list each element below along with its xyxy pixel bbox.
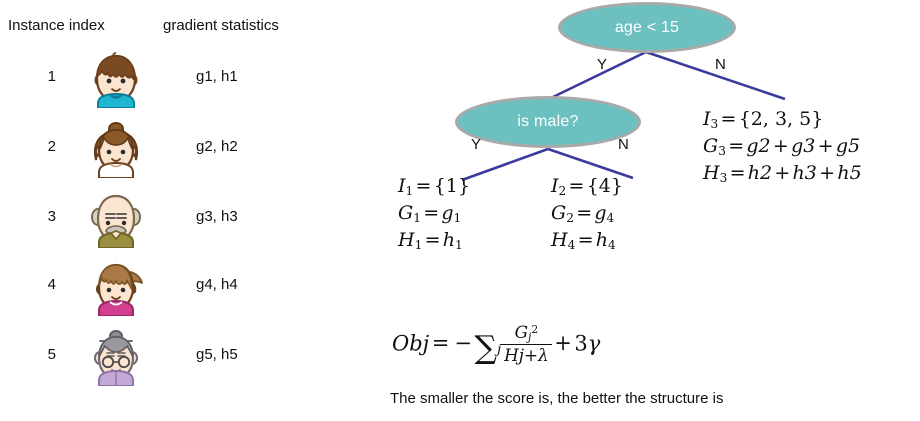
- leaf3-instance-set: I3={2, 3, 5}: [703, 108, 862, 131]
- summation-symbol: ∑: [474, 330, 497, 366]
- objective-lhs: Obj: [392, 331, 429, 355]
- objective-fraction: Gj2Hj+λ: [501, 322, 552, 365]
- objective-tail-symbol: γ: [588, 331, 601, 355]
- leaf-stats-1: I1={1} G1=g1 H1=h1: [398, 175, 470, 252]
- edge-child-yes: [462, 149, 548, 180]
- leaf2-H-var: H: [551, 229, 568, 251]
- leaf2-g-val-sub: 4: [607, 211, 615, 225]
- leaf-stats-2: I2={4} G2=g4 H4=h4: [551, 175, 623, 252]
- objective-plus: +: [552, 331, 575, 355]
- leaf1-I-var: I: [398, 175, 406, 197]
- leaf1-g-val-sub: 1: [454, 211, 462, 225]
- objective-minus: −: [452, 331, 475, 355]
- leaf2-gradient: G2=g4: [551, 202, 623, 225]
- leaf2-h-val: h: [596, 229, 608, 251]
- objective-denominator: Hj+λ: [501, 344, 552, 365]
- edge-label-root-yes: Y: [597, 56, 607, 73]
- leaf1-instance-set: I1={1}: [398, 175, 470, 198]
- leaf3-h-term-3: h5: [837, 162, 861, 184]
- leaf2-h-val-sub: 4: [608, 238, 616, 252]
- leaf3-I-set: {2, 3, 5}: [739, 108, 824, 130]
- leaf2-hessian: H4=h4: [551, 229, 623, 252]
- leaf1-gradient: G1=g1: [398, 202, 470, 225]
- leaf2-G-var: G: [551, 202, 566, 224]
- edge-label-child-yes: Y: [471, 136, 481, 153]
- leaf1-h-val-sub: 1: [455, 238, 463, 252]
- tree-node-root[interactable]: age < 15: [558, 2, 736, 53]
- objective-equals: =: [429, 331, 452, 355]
- edge-label-child-no: N: [618, 136, 629, 153]
- leaf2-g-val: g: [594, 202, 606, 224]
- leaf1-G-var: G: [398, 202, 413, 224]
- numerator-var: G: [515, 322, 528, 342]
- leaf2-I-set: {4}: [587, 175, 623, 197]
- leaf3-G-var: G: [703, 135, 718, 157]
- objective-numerator: Gj2: [501, 322, 552, 344]
- leaf3-hessian-sum: H3=h2+h3+h5: [703, 162, 862, 185]
- objective-tail-coeff: 3: [574, 331, 587, 355]
- leaf1-H-var: H: [398, 229, 415, 251]
- tree-node-is-male-label: is male?: [517, 113, 578, 131]
- caption-text: The smaller the score is, the better the…: [390, 390, 723, 407]
- leaf2-I-var: I: [551, 175, 559, 197]
- leaf2-instance-set: I2={4}: [551, 175, 623, 198]
- leaf1-h-val: h: [443, 229, 455, 251]
- leaf3-H-var: H: [703, 162, 720, 184]
- leaf3-g-term-3: g5: [836, 135, 860, 157]
- leaf2-G-sub: 2: [566, 211, 574, 225]
- tree-node-root-label: age < 15: [615, 19, 679, 37]
- leaf3-G-sub: 3: [718, 144, 726, 158]
- leaf3-gradient-sum: G3=g2+g3+g5: [703, 135, 862, 158]
- leaf3-g-term-2: g3: [791, 135, 815, 157]
- edge-label-root-no: N: [715, 56, 726, 73]
- leaf1-hessian: H1=h1: [398, 229, 470, 252]
- objective-formula: Obj=−∑jGj2Hj+λ+3γ: [392, 322, 600, 366]
- numerator-sup: 2: [531, 323, 538, 336]
- leaf1-I-set: {1}: [434, 175, 470, 197]
- leaf1-g-val: g: [441, 202, 453, 224]
- leaf3-h-term-1: h2: [748, 162, 772, 184]
- tree-node-is-male[interactable]: is male?: [455, 96, 641, 148]
- denominator-expr: Hj+λ: [504, 345, 549, 365]
- leaf-stats-3: I3={2, 3, 5} G3=g2+g3+g5 H3=h2+h3+h5: [703, 108, 862, 185]
- leaf3-I-var: I: [703, 108, 711, 130]
- leaf3-g-term-1: g2: [746, 135, 770, 157]
- leaf1-G-sub: 1: [413, 211, 421, 225]
- edge-child-no: [548, 149, 633, 178]
- leaf3-h-term-2: h3: [793, 162, 817, 184]
